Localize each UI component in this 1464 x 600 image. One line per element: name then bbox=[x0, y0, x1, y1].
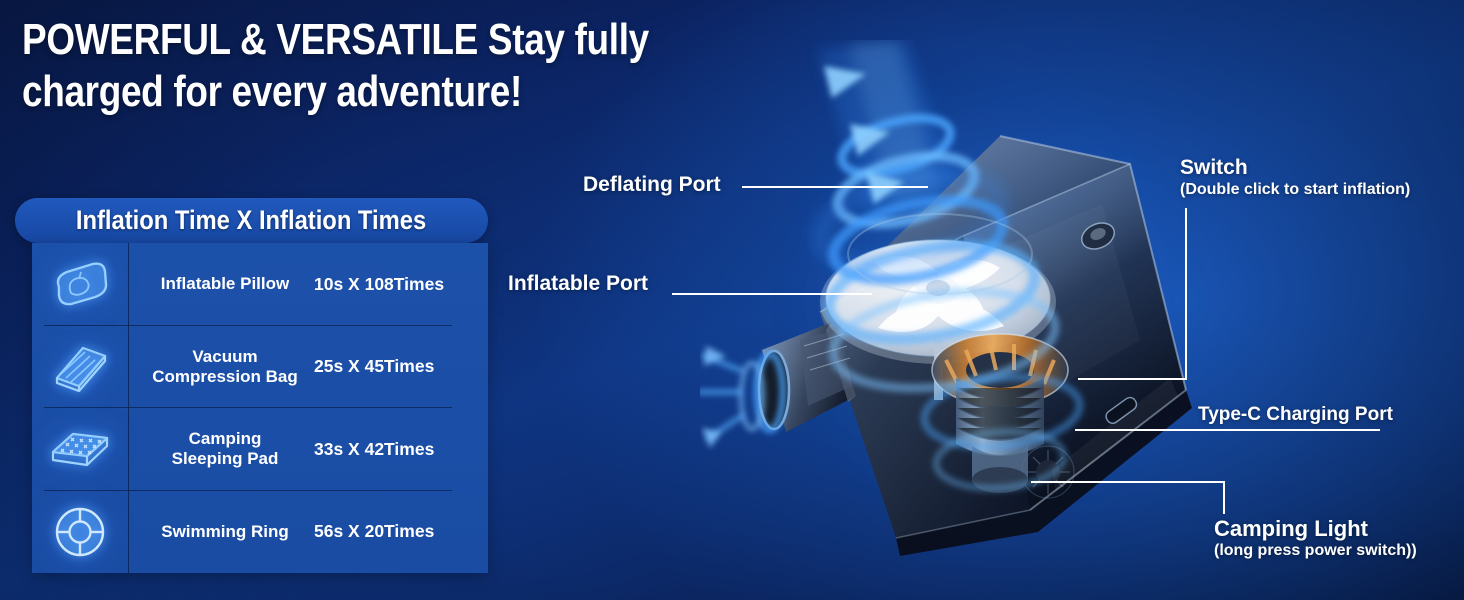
callout-camping-light-subtitle: (long press power switch)) bbox=[1214, 541, 1417, 561]
table-cell-text: Swimming Ring 56s X 20Times bbox=[128, 521, 488, 542]
callout-type-c-label: Type-C Charging Port bbox=[1198, 402, 1393, 427]
table-row-value: 25s X 45Times bbox=[314, 356, 434, 377]
table-cell-text: Inflatable Pillow 10s X 108Times bbox=[128, 274, 488, 295]
table-title: Inflation Time X Inflation Times bbox=[76, 205, 426, 236]
table-row-value: 56s X 20Times bbox=[314, 521, 434, 542]
table-row-name: Swimming Ring bbox=[150, 522, 300, 542]
callout-switch-title: Switch bbox=[1180, 155, 1410, 180]
table-row-name: Inflatable Pillow bbox=[150, 274, 300, 294]
callout-inflatable-port: Inflatable Port bbox=[508, 271, 648, 296]
leader-switch-horizontal bbox=[1078, 378, 1187, 380]
callout-camping-light: Camping Light (long press power switch)) bbox=[1214, 516, 1417, 561]
leader-inflatable-port bbox=[672, 293, 872, 295]
table-header-pill: Inflation Time X Inflation Times bbox=[15, 198, 488, 243]
table-row: Vacuum Compression Bag 25s X 45Times bbox=[32, 326, 488, 409]
vacuum-compression-bag-icon bbox=[32, 342, 128, 392]
camping-sleeping-pad-icon bbox=[32, 424, 128, 474]
table-row: Swimming Ring 56s X 20Times bbox=[32, 491, 488, 574]
headline-line-1: POWERFUL & VERSATILE Stay fully bbox=[22, 14, 610, 66]
leader-type-c-port bbox=[1075, 429, 1380, 431]
inflatable-pillow-icon bbox=[32, 259, 128, 309]
headline-line-2: charged for every adventure! bbox=[22, 66, 610, 118]
infographic-canvas: POWERFUL & VERSATILE Stay fully charged … bbox=[0, 0, 1464, 600]
table-row: Inflatable Pillow 10s X 108Times bbox=[32, 243, 488, 326]
inflation-time-table: Inflation Time X Inflation Times bbox=[15, 198, 488, 573]
table-row-value: 33s X 42Times bbox=[314, 439, 434, 460]
leader-camping-light-vertical bbox=[1223, 481, 1225, 514]
callout-camping-light-title: Camping Light bbox=[1214, 516, 1417, 541]
callout-switch: Switch (Double click to start inflation) bbox=[1180, 155, 1410, 200]
table-row: Camping Sleeping Pad 33s X 42Times bbox=[32, 408, 488, 491]
swimming-ring-icon bbox=[32, 504, 128, 560]
callout-type-c-port: Type-C Charging Port bbox=[1198, 402, 1393, 427]
table-body: Inflatable Pillow 10s X 108Times bbox=[32, 243, 488, 573]
table-cell-text: Vacuum Compression Bag 25s X 45Times bbox=[128, 347, 488, 387]
page-title: POWERFUL & VERSATILE Stay fully charged … bbox=[22, 14, 722, 118]
leader-deflating-port bbox=[742, 186, 928, 188]
table-row-name: Camping Sleeping Pad bbox=[150, 429, 300, 469]
callout-deflating-port: Deflating Port bbox=[583, 172, 721, 197]
table-row-name: Vacuum Compression Bag bbox=[150, 347, 300, 387]
leader-camping-light-horizontal bbox=[1031, 481, 1225, 483]
leader-switch-vertical bbox=[1185, 208, 1187, 380]
table-cell-text: Camping Sleeping Pad 33s X 42Times bbox=[128, 429, 488, 469]
table-row-value: 10s X 108Times bbox=[314, 274, 444, 295]
callout-inflatable-port-label: Inflatable Port bbox=[508, 271, 648, 296]
callout-deflating-port-label: Deflating Port bbox=[583, 172, 721, 197]
callout-switch-subtitle: (Double click to start inflation) bbox=[1180, 180, 1410, 200]
